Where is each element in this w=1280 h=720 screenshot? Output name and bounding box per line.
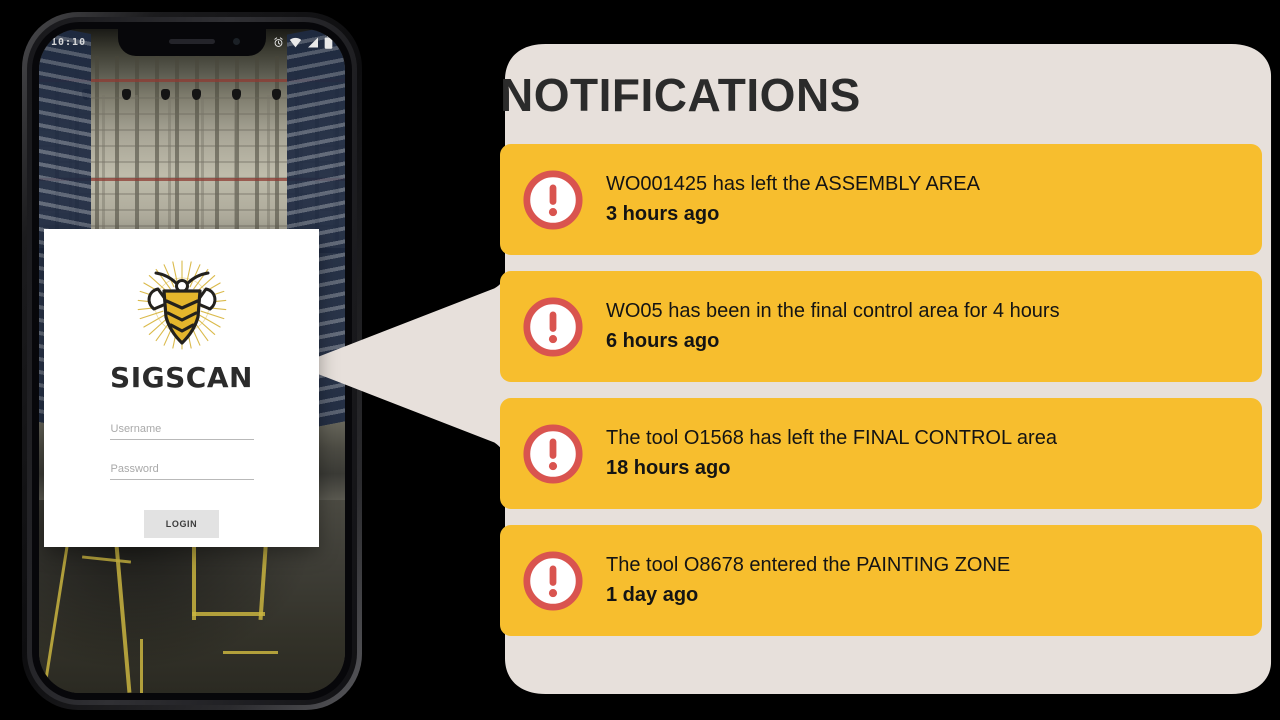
notification-message: WO001425 has left the ASSEMBLY AREA — [606, 173, 980, 196]
notification-time: 3 hours ago — [606, 203, 980, 226]
alert-exclamation-icon — [522, 169, 584, 231]
alert-exclamation-icon — [522, 296, 584, 358]
notification-message: WO05 has been in the final control area … — [606, 300, 1060, 323]
earpiece-speaker — [169, 39, 215, 44]
notification-item[interactable]: The tool O8678 entered the PAINTING ZONE… — [500, 525, 1262, 636]
alarm-icon — [273, 37, 284, 48]
notification-message: The tool O1568 has left the FINAL CONTRO… — [606, 427, 1057, 450]
phone-notch — [118, 29, 266, 56]
login-card: SIGSCAN LOGIN — [44, 229, 319, 547]
screenshot-root: 10:10 — [0, 0, 1280, 720]
notification-message: The tool O8678 entered the PAINTING ZONE — [606, 554, 1010, 577]
battery-icon — [324, 36, 333, 49]
notification-time: 18 hours ago — [606, 457, 1057, 480]
phone-screen: 10:10 — [39, 29, 345, 693]
wifi-icon — [289, 37, 302, 48]
alert-exclamation-icon — [522, 423, 584, 485]
notification-item[interactable]: WO05 has been in the final control area … — [500, 271, 1262, 382]
bee-with-mask-logo — [128, 255, 236, 359]
notification-item[interactable]: The tool O1568 has left the FINAL CONTRO… — [500, 398, 1262, 509]
notification-list: WO001425 has left the ASSEMBLY AREA 3 ho… — [500, 144, 1262, 636]
login-fields — [110, 420, 254, 480]
notification-time: 6 hours ago — [606, 330, 1060, 353]
status-bar-time: 10:10 — [51, 37, 86, 48]
alert-exclamation-icon — [522, 550, 584, 612]
brand-name: SIGSCAN — [110, 361, 253, 394]
username-input[interactable] — [110, 420, 254, 440]
page-title: NOTIFICATIONS — [500, 68, 1262, 122]
notification-item[interactable]: WO001425 has left the ASSEMBLY AREA 3 ho… — [500, 144, 1262, 255]
login-button[interactable]: LOGIN — [144, 510, 220, 538]
password-input[interactable] — [110, 460, 254, 480]
notification-time: 1 day ago — [606, 584, 1010, 607]
signal-icon — [307, 37, 319, 48]
front-camera — [233, 38, 240, 45]
notifications-callout: NOTIFICATIONS WO001425 has left the ASSE… — [306, 44, 1272, 694]
